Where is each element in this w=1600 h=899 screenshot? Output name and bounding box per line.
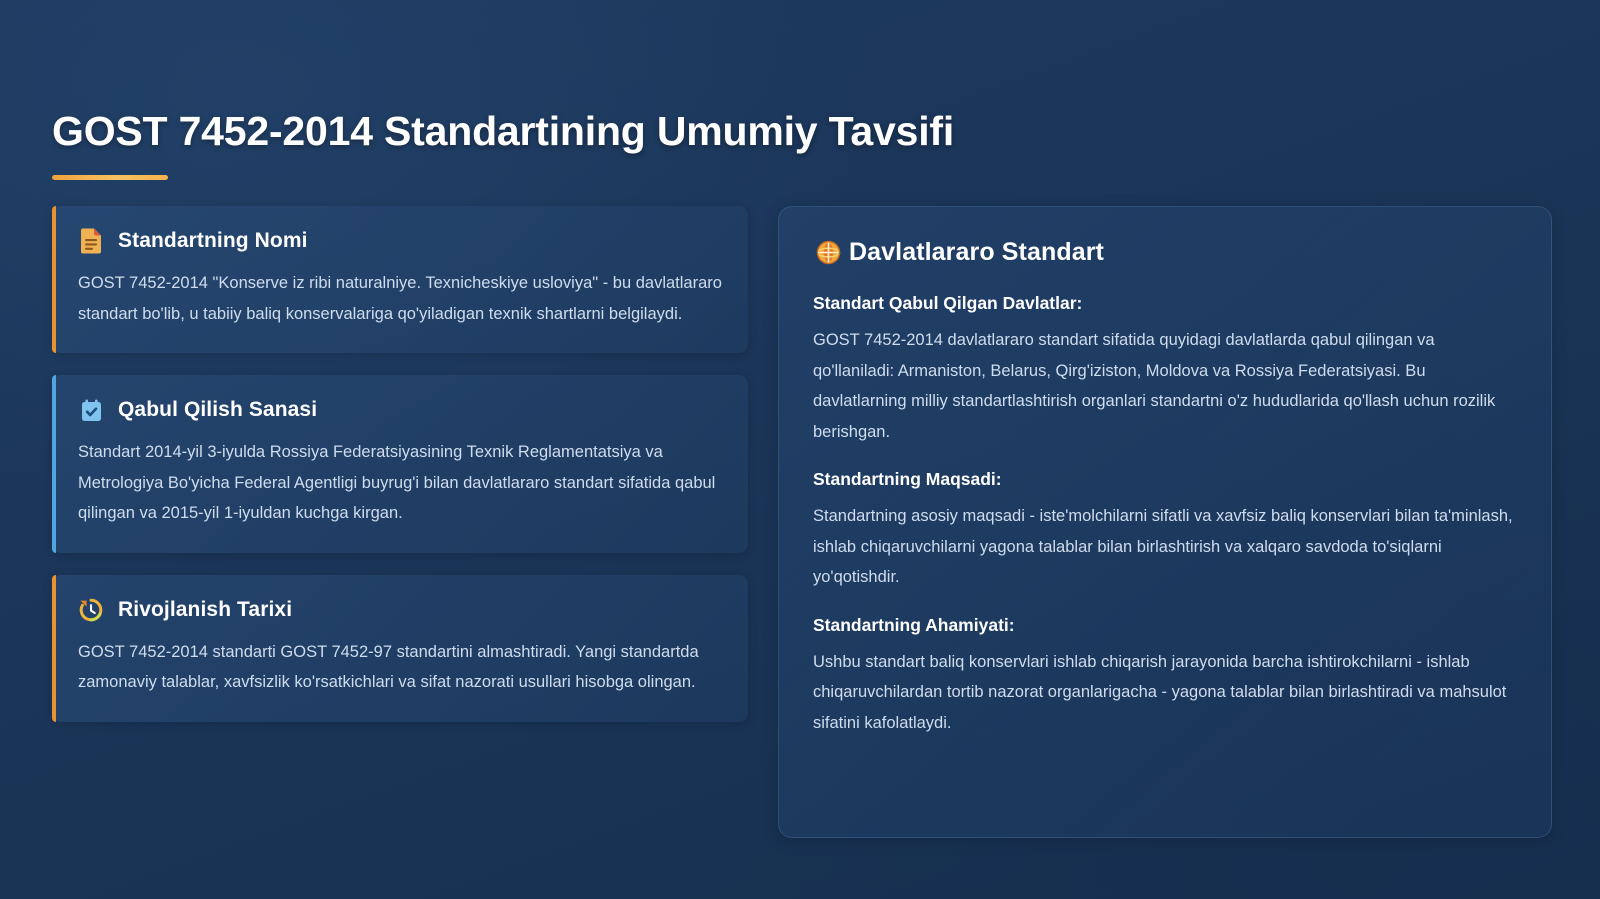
card-standartning-nomi: Standartning Nomi GOST 7452-2014 "Konser… — [52, 206, 748, 353]
section-qabul-qilgan-davlatlar: Standart Qabul Qilgan Davlatlar: GOST 74… — [813, 293, 1517, 447]
card-header: Rivojlanish Tarixi — [78, 597, 722, 623]
card-title: Rivojlanish Tarixi — [118, 598, 292, 622]
card-header: Qabul Qilish Sanasi — [78, 397, 722, 423]
globe-icon — [813, 237, 843, 267]
calendar-check-icon — [78, 397, 104, 423]
card-body: GOST 7452-2014 standarti GOST 7452-97 st… — [78, 637, 722, 698]
card-title: Standartning Nomi — [118, 229, 308, 253]
section-heading: Standart Qabul Qilgan Davlatlar: — [813, 293, 1517, 314]
history-clock-icon — [78, 597, 104, 623]
section-heading: Standartning Maqsadi: — [813, 469, 1517, 490]
card-body: Standart 2014-yil 3-iyulda Rossiya Feder… — [78, 437, 722, 529]
section-maqsadi: Standartning Maqsadi: Standartning asosi… — [813, 469, 1517, 593]
card-qabul-qilish-sanasi: Qabul Qilish Sanasi Standart 2014-yil 3-… — [52, 375, 748, 553]
title-underline-accent — [52, 175, 168, 180]
panel-title: Davlatlararo Standart — [849, 238, 1104, 267]
title-block: GOST 7452-2014 Standartining Umumiy Tavs… — [48, 0, 1552, 180]
section-text: Ushbu standart baliq konservlari ishlab … — [813, 647, 1517, 739]
document-icon — [78, 228, 104, 254]
card-title: Qabul Qilish Sanasi — [118, 398, 317, 422]
section-text: GOST 7452-2014 davlatlararo standart sif… — [813, 325, 1517, 447]
davlatlararo-standart-panel: Davlatlararo Standart Standart Qabul Qil… — [778, 206, 1552, 838]
card-header: Standartning Nomi — [78, 228, 722, 254]
page-title: GOST 7452-2014 Standartining Umumiy Tavs… — [52, 108, 1552, 155]
card-rivojlanish-tarixi: Rivojlanish Tarixi GOST 7452-2014 standa… — [52, 575, 748, 722]
section-ahamiyati: Standartning Ahamiyati: Ushbu standart b… — [813, 615, 1517, 739]
page-root: GOST 7452-2014 Standartining Umumiy Tavs… — [0, 0, 1600, 899]
panel-header: Davlatlararo Standart — [813, 237, 1517, 267]
card-body: GOST 7452-2014 "Konserve iz ribi natural… — [78, 268, 722, 329]
left-column: Standartning Nomi GOST 7452-2014 "Konser… — [48, 206, 748, 722]
section-heading: Standartning Ahamiyati: — [813, 615, 1517, 636]
right-column: Davlatlararo Standart Standart Qabul Qil… — [778, 206, 1552, 838]
section-text: Standartning asosiy maqsadi - iste'molch… — [813, 501, 1517, 593]
content-columns: Standartning Nomi GOST 7452-2014 "Konser… — [48, 206, 1552, 838]
